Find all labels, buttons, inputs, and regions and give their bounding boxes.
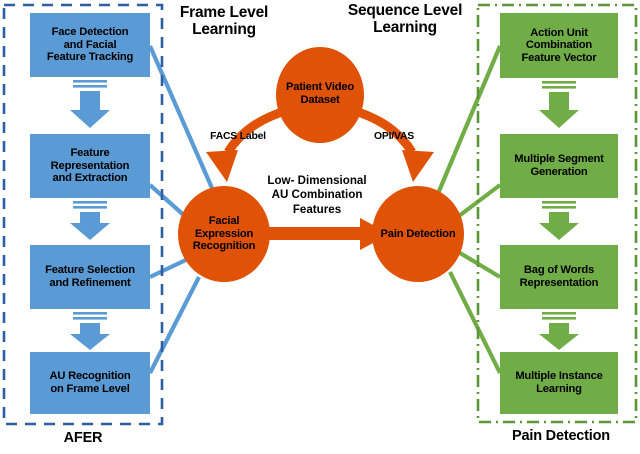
box-multiple-segment-generation[interactable] bbox=[500, 134, 618, 198]
arrow-down-blue-3 bbox=[70, 323, 110, 350]
box-feature-selection[interactable] bbox=[30, 245, 150, 309]
blue-flow-arrows bbox=[70, 80, 110, 350]
green-flow-arrows bbox=[539, 81, 579, 350]
arrow-down-blue-1 bbox=[70, 91, 110, 128]
box-face-detection[interactable] bbox=[30, 13, 150, 77]
arrow-down-blue-2 bbox=[70, 212, 110, 240]
arrow-down-green-1 bbox=[539, 92, 579, 128]
box-bag-of-words[interactable] bbox=[500, 245, 618, 309]
box-multiple-instance-learning[interactable] bbox=[500, 352, 618, 414]
diagram-canvas: Frame Level Learning Sequence Level Lear… bbox=[0, 0, 640, 454]
arrow-fer-to-pain bbox=[266, 218, 390, 250]
node-patient-video-dataset[interactable] bbox=[276, 47, 364, 143]
box-au-combination-feature-vector[interactable] bbox=[500, 13, 618, 78]
arrow-down-green-3 bbox=[539, 323, 579, 350]
arrow-down-green-2 bbox=[539, 212, 579, 240]
arrow-dataset-to-pain bbox=[352, 110, 412, 152]
node-facial-expression-recognition[interactable] bbox=[178, 186, 270, 282]
box-au-recognition[interactable] bbox=[30, 352, 150, 414]
arrowhead-dataset-to-pain bbox=[402, 150, 434, 182]
arrowhead-dataset-to-fer bbox=[206, 150, 238, 182]
shapes-layer bbox=[0, 0, 640, 454]
box-feature-representation[interactable] bbox=[30, 134, 150, 198]
arrow-dataset-to-fer bbox=[228, 110, 288, 152]
